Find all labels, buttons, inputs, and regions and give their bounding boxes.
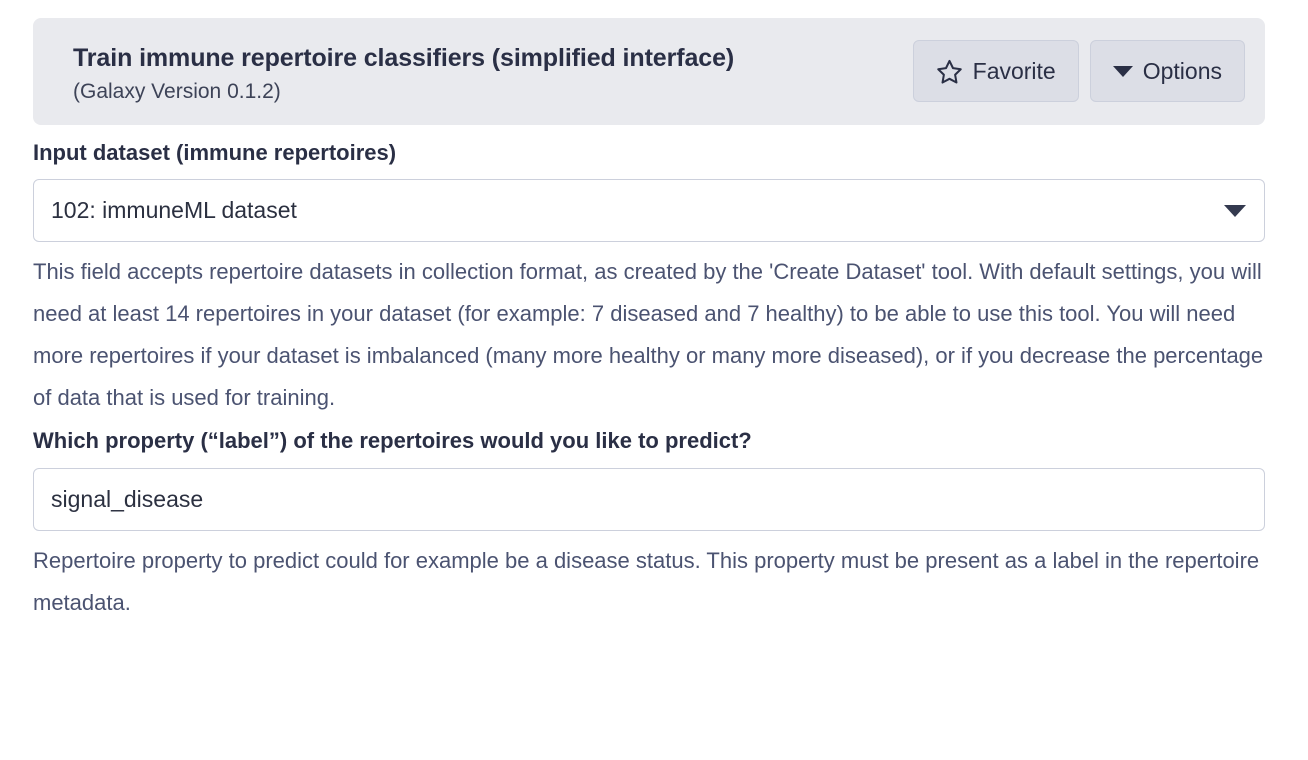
label-property-value: signal_disease xyxy=(51,486,1246,513)
tool-header-titles: Train immune repertoire classifiers (sim… xyxy=(73,36,734,105)
tool-form: Input dataset (immune repertoires) 102: … xyxy=(33,125,1265,624)
label-property-help-text: Repertoire property to predict could for… xyxy=(33,540,1265,624)
field-label-property: Which property (“label”) of the repertoi… xyxy=(33,427,1265,623)
tool-form-page: Train immune repertoire classifiers (sim… xyxy=(0,0,1308,760)
input-dataset-label: Input dataset (immune repertoires) xyxy=(33,139,1265,167)
options-button[interactable]: Options xyxy=(1090,40,1245,102)
label-property-input[interactable]: signal_disease xyxy=(33,468,1265,531)
label-property-label: Which property (“label”) of the repertoi… xyxy=(33,427,1265,455)
options-button-label: Options xyxy=(1143,60,1222,83)
star-icon xyxy=(936,58,963,85)
favorite-button[interactable]: Favorite xyxy=(913,40,1079,102)
field-input-dataset: Input dataset (immune repertoires) 102: … xyxy=(33,139,1265,419)
tool-header: Train immune repertoire classifiers (sim… xyxy=(33,18,1265,125)
tool-version-label: (Galaxy Version 0.1.2) xyxy=(73,78,734,105)
caret-down-icon xyxy=(1113,66,1133,77)
chevron-down-icon xyxy=(1224,205,1246,217)
input-dataset-selected-value: 102: immuneML dataset xyxy=(51,197,1212,224)
input-dataset-select[interactable]: 102: immuneML dataset xyxy=(33,179,1265,242)
page-title: Train immune repertoire classifiers (sim… xyxy=(73,44,734,74)
tool-header-actions: Favorite Options xyxy=(913,36,1245,102)
favorite-button-label: Favorite xyxy=(973,60,1056,83)
input-dataset-help-text: This field accepts repertoire datasets i… xyxy=(33,251,1265,418)
